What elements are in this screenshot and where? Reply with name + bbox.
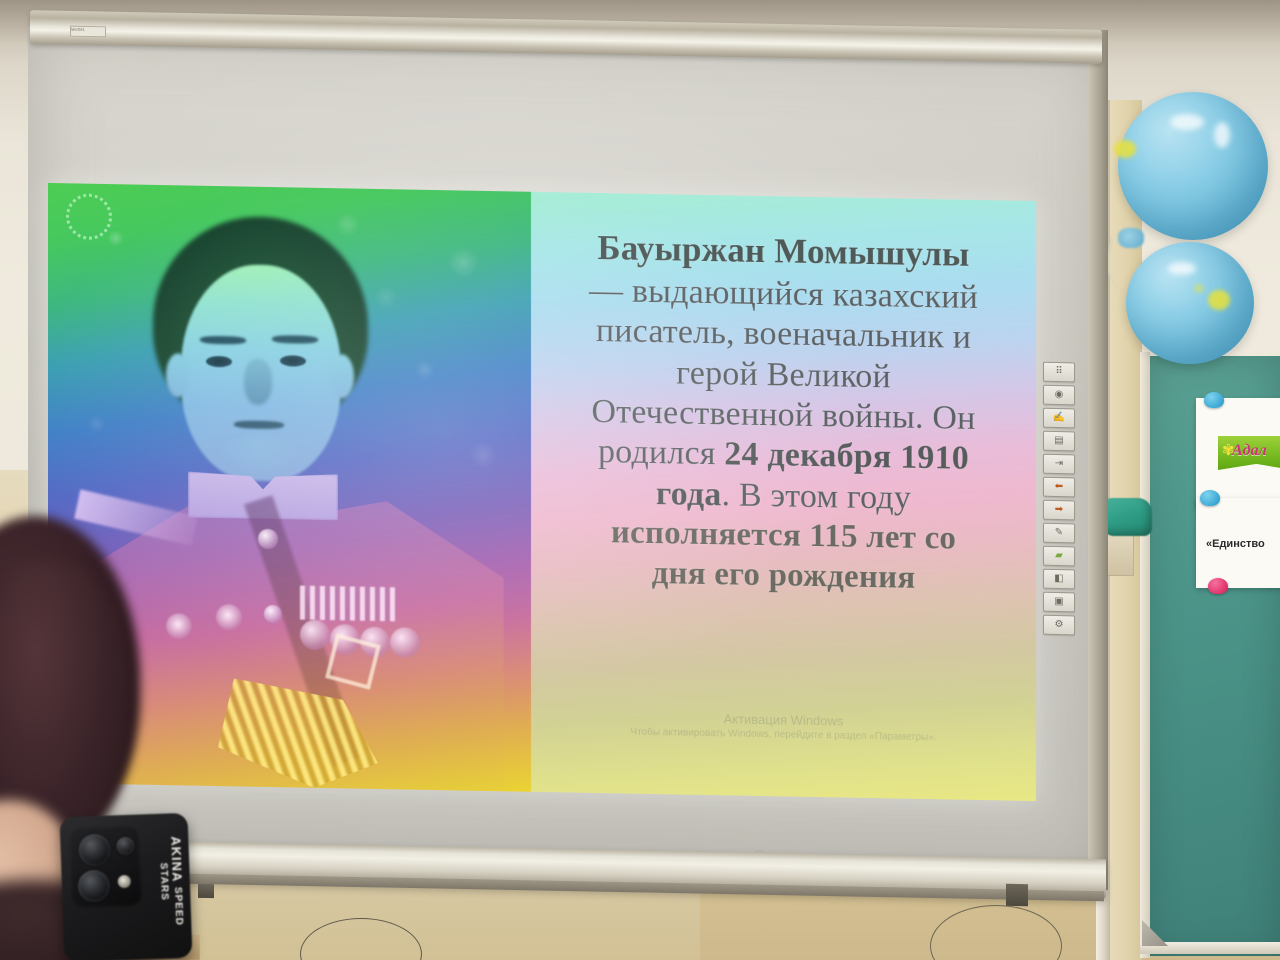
smartphone[interactable]: AKINA SPEED STARS	[60, 813, 193, 960]
portrait-brow-left	[200, 336, 246, 345]
poster-edinstvo: «Единство	[1196, 498, 1280, 588]
slide-birth-date: 24 декабря 1910	[724, 436, 969, 477]
portrait-button-1	[258, 529, 278, 549]
portrait-order-star-2	[216, 604, 242, 630]
camera-flash	[118, 875, 131, 888]
forward-arrow-icon[interactable]: ➡	[1043, 500, 1075, 521]
camera-lens-tele	[116, 837, 135, 856]
slide-title: Бауыржан Момышулы	[553, 226, 1014, 276]
page-note-icon[interactable]: ▤	[1043, 431, 1075, 452]
portrait-ear-left	[166, 353, 190, 397]
export-arrow-icon[interactable]: ⇥	[1043, 454, 1075, 475]
portrait-medal-4	[390, 627, 420, 658]
slide-text-panel: Бауыржан Момышулы — выдающийся казахский…	[531, 192, 1036, 801]
whiteboard-model-sticker: MODEL	[70, 26, 106, 38]
slide-line-birth: родился 24 декабря 1910	[553, 432, 1014, 481]
whiteboard-toolbar[interactable]: ⠿ ◉ ✍ ▤ ⇥ ⬅ ➡ ✎ ▰ ◧ ▣ ⚙	[1043, 362, 1073, 636]
back-arrow-icon[interactable]: ⬅	[1043, 477, 1075, 498]
case-text-akina: AKINA	[168, 836, 185, 883]
portrait-nose	[244, 359, 272, 406]
case-text-speed: SPEED	[172, 887, 184, 926]
camera-module	[68, 824, 143, 908]
slide-line-anniversary: исполняется 115 лет со	[553, 513, 1014, 561]
tray-bracket-right	[1006, 884, 1028, 906]
balloon-lower	[1126, 242, 1254, 364]
camera-capture-icon[interactable]: ◉	[1043, 385, 1075, 406]
pushpin-blue-2	[1200, 490, 1220, 506]
portrait-brow-right	[272, 335, 318, 344]
portrait-ear-right	[330, 354, 354, 398]
portrait-mouth	[234, 420, 284, 429]
portrait-stamp	[66, 193, 112, 240]
windows-activation-watermark: Активация Windows Чтобы активировать Win…	[531, 708, 1036, 745]
camera-lens-wide	[77, 870, 110, 903]
slide-line-2: писатель, военачальник и	[553, 310, 1014, 359]
portrait-button-2	[264, 605, 282, 623]
pen-tool-icon[interactable]: ✎	[1043, 523, 1075, 544]
balloon-upper	[1118, 92, 1268, 240]
pushpin-blue-1	[1204, 392, 1224, 408]
pushpin-pink	[1208, 578, 1228, 594]
case-text-stars: STARS	[158, 862, 170, 901]
slide-year-rest: . В этом году	[722, 476, 912, 516]
select-tool-icon[interactable]: ⠿	[1043, 362, 1075, 383]
balloon-knot	[1118, 228, 1144, 248]
projected-slide: Бауыржан Момышулы — выдающийся казахский…	[48, 183, 1036, 801]
settings-tool-icon[interactable]: ⚙	[1043, 615, 1075, 636]
poster-banner-text: Адал	[1232, 442, 1267, 460]
tray-bracket-left	[198, 884, 214, 898]
whiteboard-right-edge	[1088, 30, 1108, 890]
page-tool-icon[interactable]: ▣	[1043, 592, 1075, 613]
portrait-eye-left	[206, 356, 232, 367]
phone-case-text: AKINA SPEED STARS	[146, 825, 186, 938]
portrait-ribbon-bar	[300, 586, 396, 622]
portrait-order-star-1	[166, 613, 192, 639]
camera-lens-main	[78, 834, 111, 867]
poster-caption: «Единство	[1206, 538, 1265, 550]
cleaning-rag	[1102, 498, 1152, 536]
slide-birth-prefix: родился	[598, 433, 724, 472]
eraser-tool-icon[interactable]: ◧	[1043, 569, 1075, 590]
chalkboard-frame-left	[1140, 352, 1150, 958]
hand-pan-icon[interactable]: ✍	[1043, 408, 1075, 429]
portrait-eye-right	[280, 355, 306, 366]
slide-year-word: года	[656, 475, 722, 513]
highlighter-tool-icon[interactable]: ▰	[1043, 546, 1075, 567]
portrait-medal-1	[300, 620, 330, 651]
classroom-scene: ✾ Адал «Единство MODEL ◠	[0, 0, 1280, 960]
